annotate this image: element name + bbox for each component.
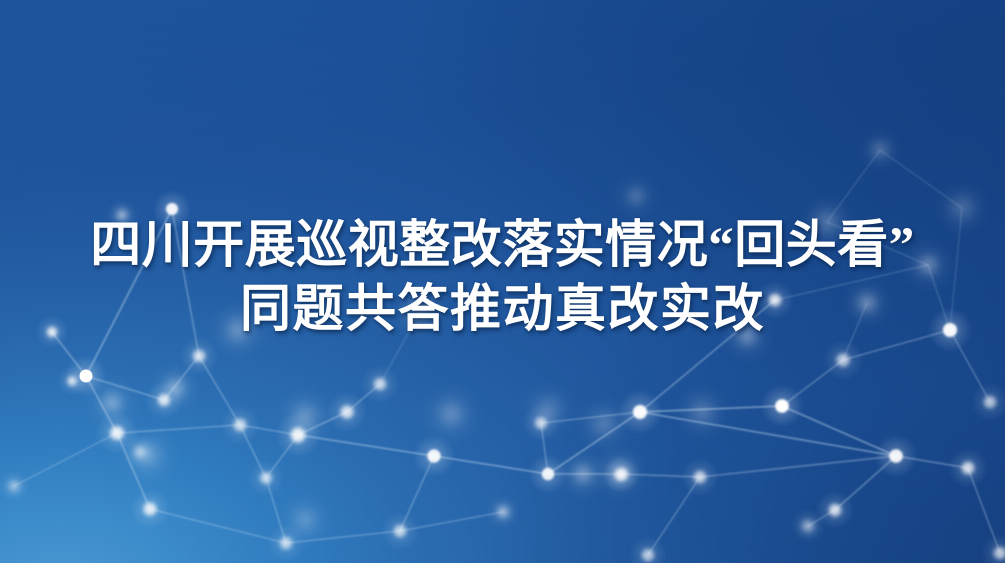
network-node bbox=[67, 376, 76, 385]
network-node bbox=[616, 468, 628, 480]
network-link bbox=[700, 456, 896, 477]
network-node bbox=[117, 210, 127, 220]
network-constellation-graphic bbox=[0, 0, 1005, 563]
network-node bbox=[158, 394, 170, 406]
network-node bbox=[441, 404, 461, 424]
network-node bbox=[633, 405, 647, 419]
network-node bbox=[829, 504, 841, 516]
network-node bbox=[595, 415, 614, 434]
network-node bbox=[341, 406, 354, 419]
network-node bbox=[260, 472, 271, 483]
network-node bbox=[943, 323, 957, 337]
network-node bbox=[539, 401, 558, 420]
title-banner: 四川开展巡视整改落实情况“回头看” 同题共答推动真改实改 bbox=[0, 0, 1005, 563]
network-node bbox=[642, 549, 654, 561]
network-node bbox=[144, 503, 157, 516]
network-node bbox=[138, 445, 158, 465]
network-node bbox=[889, 449, 903, 463]
network-node bbox=[542, 468, 554, 480]
network-node bbox=[962, 462, 974, 474]
network-node bbox=[411, 303, 429, 321]
network-node bbox=[193, 350, 205, 362]
network-node bbox=[110, 426, 124, 440]
network-node bbox=[693, 403, 711, 421]
network-node bbox=[803, 521, 814, 532]
network-node bbox=[920, 257, 937, 274]
network-node bbox=[818, 213, 836, 231]
network-node bbox=[296, 511, 314, 529]
network-node bbox=[80, 370, 93, 383]
network-node bbox=[694, 471, 706, 483]
network-node bbox=[575, 466, 591, 482]
network-node bbox=[291, 428, 305, 442]
network-node bbox=[229, 321, 248, 340]
network-node bbox=[167, 380, 183, 396]
network-node bbox=[739, 328, 756, 345]
network-node bbox=[628, 188, 644, 204]
network-link bbox=[150, 509, 286, 543]
network-node bbox=[873, 143, 887, 157]
network-node bbox=[498, 507, 508, 517]
network-node bbox=[9, 481, 19, 491]
network-node bbox=[775, 399, 789, 413]
network-node bbox=[984, 396, 996, 408]
network-node bbox=[47, 327, 57, 337]
network-node bbox=[859, 295, 875, 311]
network-node bbox=[374, 378, 386, 390]
network-node bbox=[769, 294, 781, 306]
network-node bbox=[234, 419, 246, 431]
network-link bbox=[172, 209, 199, 356]
network-node bbox=[837, 354, 850, 367]
network-node bbox=[427, 449, 440, 462]
network-link bbox=[86, 209, 172, 376]
network-node-glows bbox=[0, 128, 1005, 563]
network-node bbox=[280, 537, 292, 549]
network-node bbox=[103, 394, 121, 412]
network-node bbox=[166, 203, 178, 215]
network-node bbox=[394, 525, 406, 537]
network-node bbox=[953, 199, 971, 217]
network-node bbox=[296, 407, 315, 426]
